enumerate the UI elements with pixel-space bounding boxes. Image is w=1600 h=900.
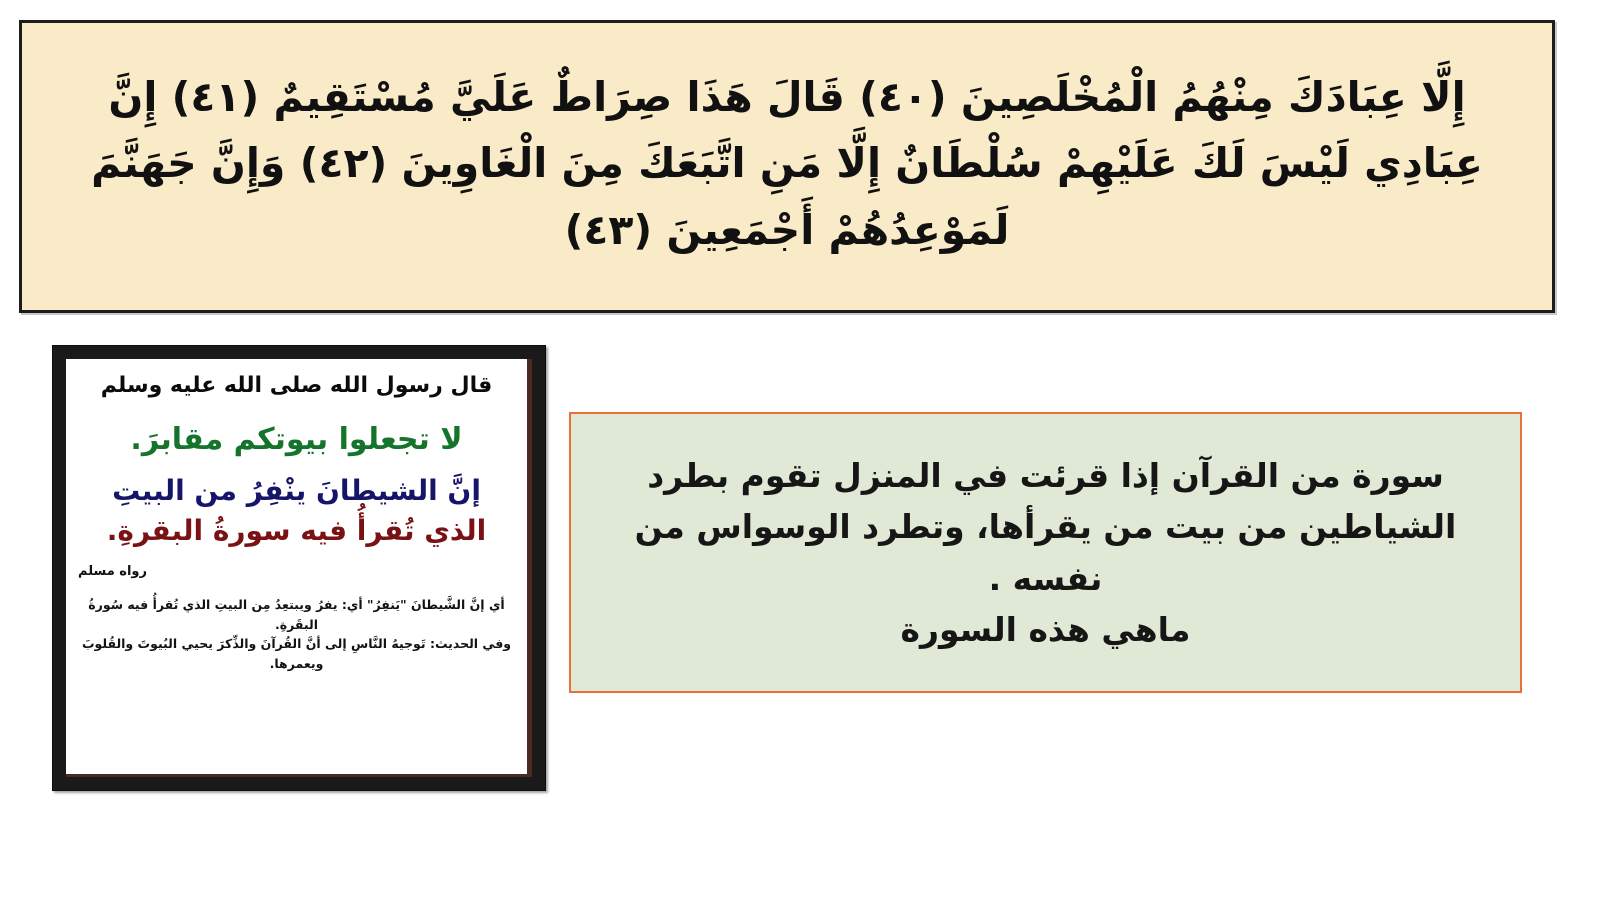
hadith-card: قال رسول الله صلى الله عليه وسلم لا تجعل… xyxy=(52,345,546,791)
question-line: نفسه . xyxy=(601,553,1490,604)
hadith-explanation-line: وفي الحديث: تَوجيهُ النَّاسِ إلى أنَّ ال… xyxy=(80,634,513,673)
hadith-line-green: لا تجعلوا بيوتكم مقابرَ. xyxy=(78,421,515,459)
hadith-explanation-line: أي إنَّ الشَّيطانَ "يَنفِرُ" أي: يفرُ وي… xyxy=(80,595,513,634)
quran-verse-box: إِلَّا عِبَادَكَ مِنْهُمُ الْمُخْلَصِينَ… xyxy=(19,20,1555,313)
question-line: سورة من القرآن إذا قرئت في المنزل تقوم ب… xyxy=(601,450,1490,501)
hadith-card-inner-frame: قال رسول الله صلى الله عليه وسلم لا تجعل… xyxy=(66,359,532,777)
hadith-source-attribution: رواه مسلم xyxy=(78,564,147,579)
question-text: سورة من القرآن إذا قرئت في المنزل تقوم ب… xyxy=(571,444,1520,661)
question-prompt: ماهي هذه السورة xyxy=(601,604,1490,655)
hadith-explanation: أي إنَّ الشَّيطانَ "يَنفِرُ" أي: يفرُ وي… xyxy=(78,595,515,673)
question-box: سورة من القرآن إذا قرئت في المنزل تقوم ب… xyxy=(569,412,1522,693)
hadith-line-red: الذي تُقرأُ فيه سورةُ البقرةِ. xyxy=(78,513,515,549)
hadith-header: قال رسول الله صلى الله عليه وسلم xyxy=(78,373,515,399)
quran-verse-text: إِلَّا عِبَادَكَ مِنْهُمُ الْمُخْلَصِينَ… xyxy=(22,60,1552,273)
question-line: الشياطين من بيت من يقرأها، وتطرد الوسواس… xyxy=(601,501,1490,552)
hadith-line-navy: إنَّ الشيطانَ ينْفِرُ من البيتِ xyxy=(78,473,515,509)
